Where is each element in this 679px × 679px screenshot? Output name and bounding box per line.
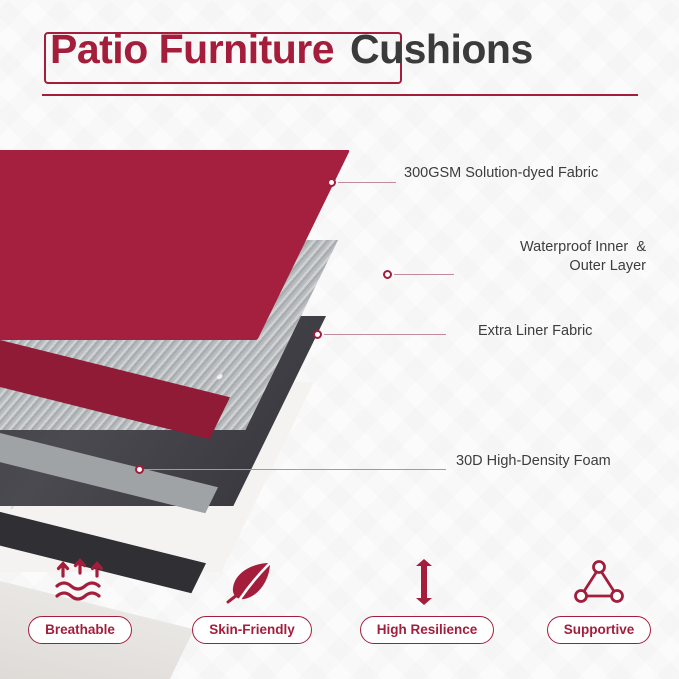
callout-label-liner: Extra Liner Fabric [478,322,678,341]
callout-line-liner [324,334,446,335]
feather-icon [172,556,332,608]
infographic-page: Patio Furniture Cushions 300GSM Solution… [0,0,679,679]
feature-badges: Breathable Skin-Friendly [0,556,679,666]
callout-dot-waterproof [383,270,392,279]
page-title: Patio Furniture Cushions [48,26,533,73]
title-block: Patio Furniture Cushions [0,14,679,82]
feature-high-resilience: High Resilience [347,556,507,660]
callout-label-fabric: 300GSM Solution-dyed Fabric [404,164,664,183]
callout-dot-fabric [327,178,336,187]
feature-supportive: Supportive [519,556,679,660]
support-triangle-icon [519,556,679,608]
feature-label-skin-friendly: Skin-Friendly [192,616,312,644]
callout-dot-foam [135,465,144,474]
feature-label-high-resilience: High Resilience [360,616,495,644]
resilience-arrows-icon [347,556,507,608]
title-rest-text: Cushions [339,26,533,72]
feature-label-breathable: Breathable [28,616,132,644]
feature-skin-friendly: Skin-Friendly [172,556,332,660]
callout-label-waterproof-line2: Outer Layer [394,257,646,276]
callout-line-fabric [338,182,396,183]
callout-dot-liner [313,330,322,339]
callout-line-foam [146,469,446,470]
breathable-icon [0,556,160,608]
feature-label-supportive: Supportive [547,616,652,644]
layer-stack-diagram [0,120,440,520]
title-underline [42,94,638,96]
title-highlight-text: Patio Furniture [48,24,339,74]
callout-label-waterproof-line1: Waterproof Inner & [394,238,646,257]
feature-breathable: Breathable [0,556,160,660]
callout-label-foam: 30D High-Density Foam [456,452,676,471]
